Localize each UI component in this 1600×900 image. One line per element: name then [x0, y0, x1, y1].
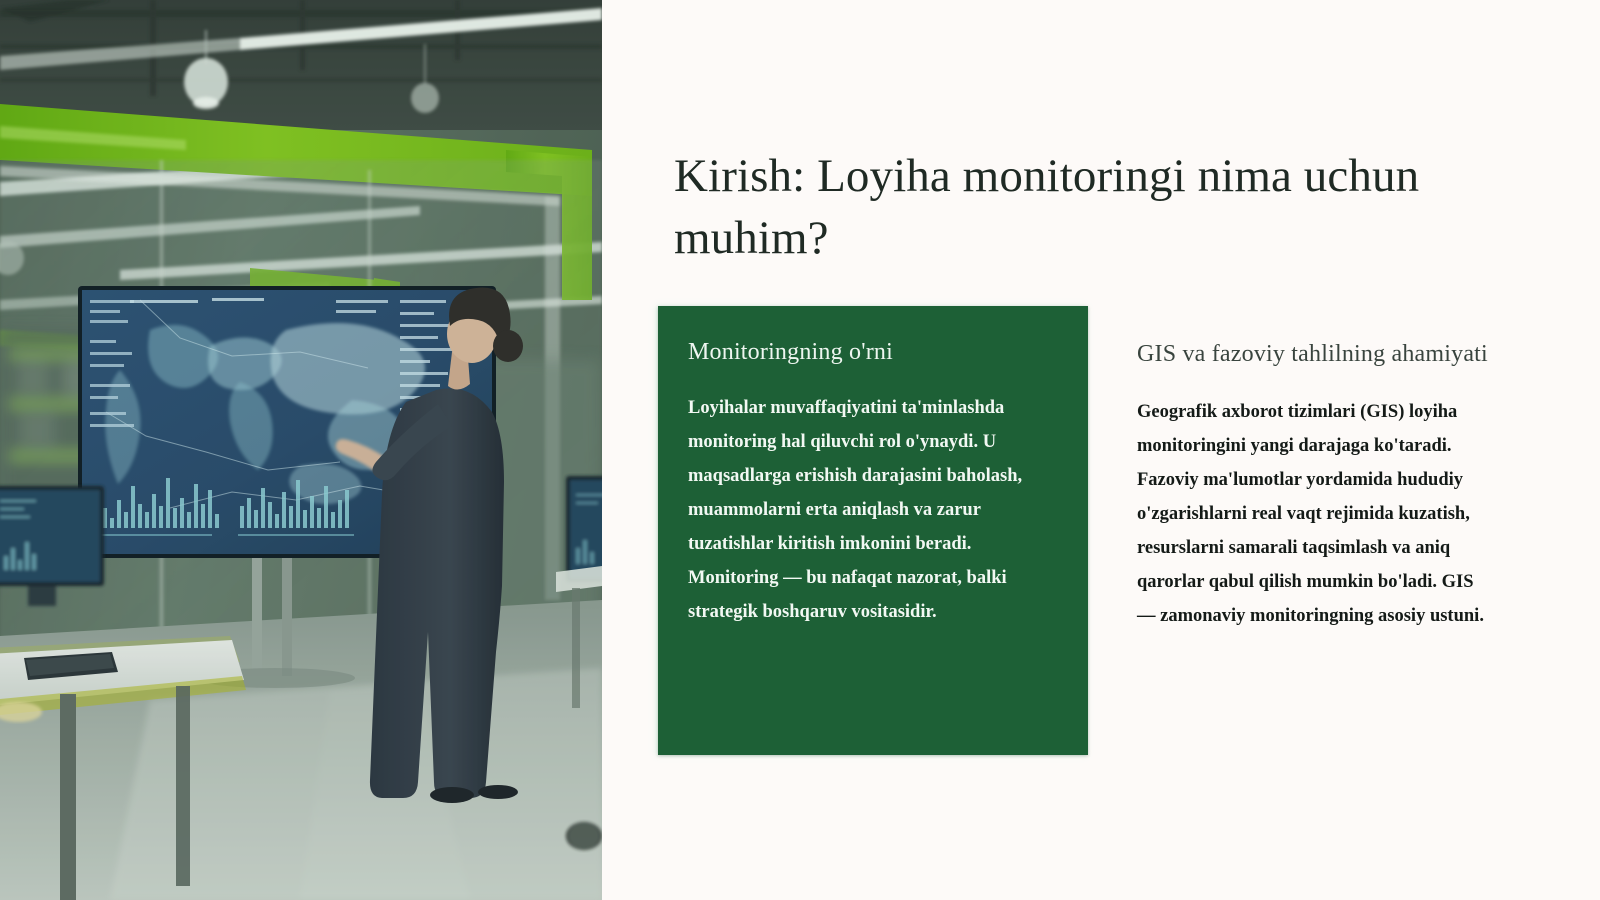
- card-heading-gis-importance: GIS va fazoviy tahlilning ahamiyati: [1137, 338, 1488, 370]
- cards-row: Monitoringning o'rni Loyihalar muvaffaqi…: [658, 306, 1548, 755]
- slide-root: Kirish: Loyiha monitoringi nima uchun mu…: [0, 0, 1600, 900]
- slide-content: Kirish: Loyiha monitoringi nima uchun mu…: [602, 0, 1600, 900]
- office-monitoring-photo-illustration: [0, 0, 602, 900]
- page-title: Kirish: Loyiha monitoringi nima uchun mu…: [674, 145, 1464, 269]
- slide-photo: [0, 0, 602, 900]
- card-gis-importance: GIS va fazoviy tahlilning ahamiyati Geog…: [1088, 306, 1518, 633]
- card-heading-monitoring-role: Monitoringning o'rni: [688, 337, 1058, 367]
- card-body-gis-importance: Geografik axborot tizimlari (GIS) loyiha…: [1137, 395, 1488, 633]
- card-body-monitoring-role: Loyihalar muvaffaqiyatini ta'minlashda m…: [688, 391, 1058, 629]
- card-monitoring-role: Monitoringning o'rni Loyihalar muvaffaqi…: [658, 306, 1088, 755]
